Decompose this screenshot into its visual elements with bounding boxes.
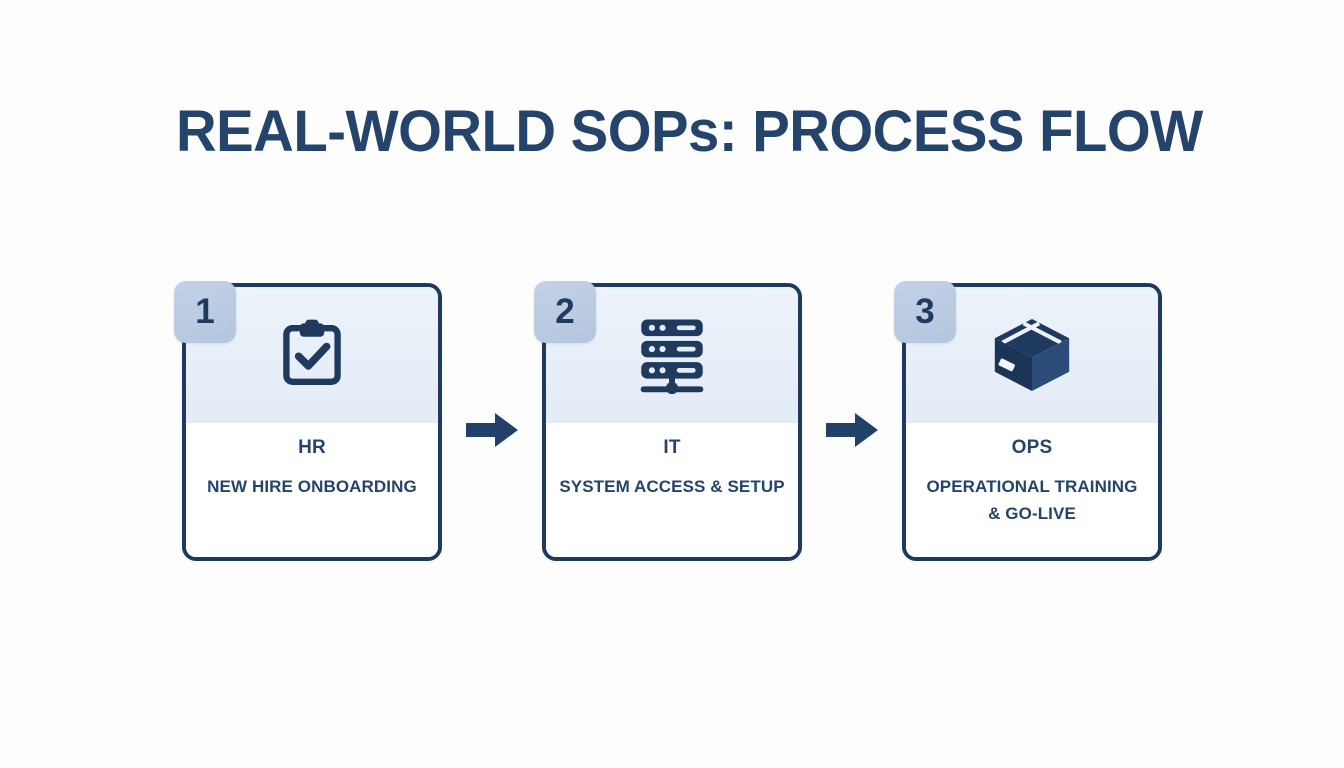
card-department-label: HR <box>198 437 426 460</box>
clipboard-check-icon <box>270 313 354 397</box>
card-text-area: IT SYSTEM ACCESS & SETUP <box>546 423 798 557</box>
process-flow-diagram: HR NEW HIRE ONBOARDING 1 <box>182 283 1162 561</box>
arrow-right-icon <box>824 410 880 450</box>
process-step-card-1[interactable]: HR NEW HIRE ONBOARDING 1 <box>182 283 442 561</box>
process-flow-slide: REAL-WORLD SOPs: PROCESS FLOW HR <box>0 0 1344 768</box>
step-number-badge: 1 <box>174 281 236 343</box>
step-number-badge: 2 <box>534 281 596 343</box>
server-rack-icon <box>630 313 714 397</box>
card-description: OPERATIONAL TRAINING & GO-LIVE <box>918 473 1146 527</box>
page-title: REAL-WORLD SOPs: PROCESS FLOW <box>176 103 1203 161</box>
arrow-right-icon <box>464 410 520 450</box>
card-description: SYSTEM ACCESS & SETUP <box>558 473 786 500</box>
process-step-card-3[interactable]: OPS OPERATIONAL TRAINING & GO-LIVE 3 <box>902 283 1162 561</box>
card-department-label: IT <box>558 437 786 460</box>
card-text-area: HR NEW HIRE ONBOARDING <box>186 423 438 557</box>
process-step-card-2[interactable]: IT SYSTEM ACCESS & SETUP 2 <box>542 283 802 561</box>
card-department-label: OPS <box>918 437 1146 460</box>
package-box-icon <box>990 313 1074 397</box>
card-description: NEW HIRE ONBOARDING <box>198 473 426 500</box>
step-number-badge: 3 <box>894 281 956 343</box>
card-text-area: OPS OPERATIONAL TRAINING & GO-LIVE <box>906 423 1158 557</box>
